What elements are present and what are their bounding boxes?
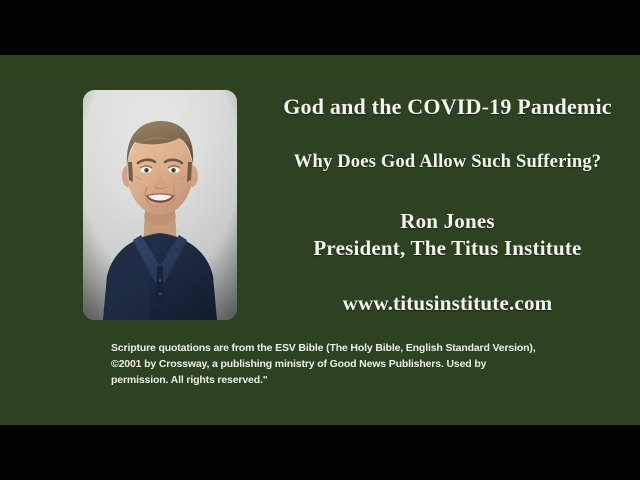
speaker-role: President, The Titus Institute	[255, 237, 640, 259]
talk-subtitle: Why Does God Allow Such Suffering?	[255, 153, 640, 173]
talk-title: God and the COVID-19 Pandemic	[255, 95, 640, 118]
letterbox-bar-bottom	[0, 425, 640, 480]
copyright-line: Scripture quotations are from the ESV Bi…	[111, 340, 531, 356]
slide-canvas: God and the COVID-19 Pandemic Why Does G…	[0, 55, 640, 425]
speaker-portrait-photo	[83, 90, 237, 320]
slide-frame: God and the COVID-19 Pandemic Why Does G…	[0, 0, 640, 480]
portrait-illustration	[83, 90, 237, 320]
copyright-line: ©2001 by Crossway, a publishing ministry…	[111, 356, 531, 372]
letterbox-bar-top	[0, 0, 640, 55]
copyright-attribution-block: Scripture quotations are from the ESV Bi…	[111, 340, 531, 388]
speaker-name: Ron Jones	[255, 210, 640, 232]
copyright-line: permission. All rights reserved."	[111, 372, 531, 388]
website-url: www.titusinstitute.com	[255, 292, 640, 314]
